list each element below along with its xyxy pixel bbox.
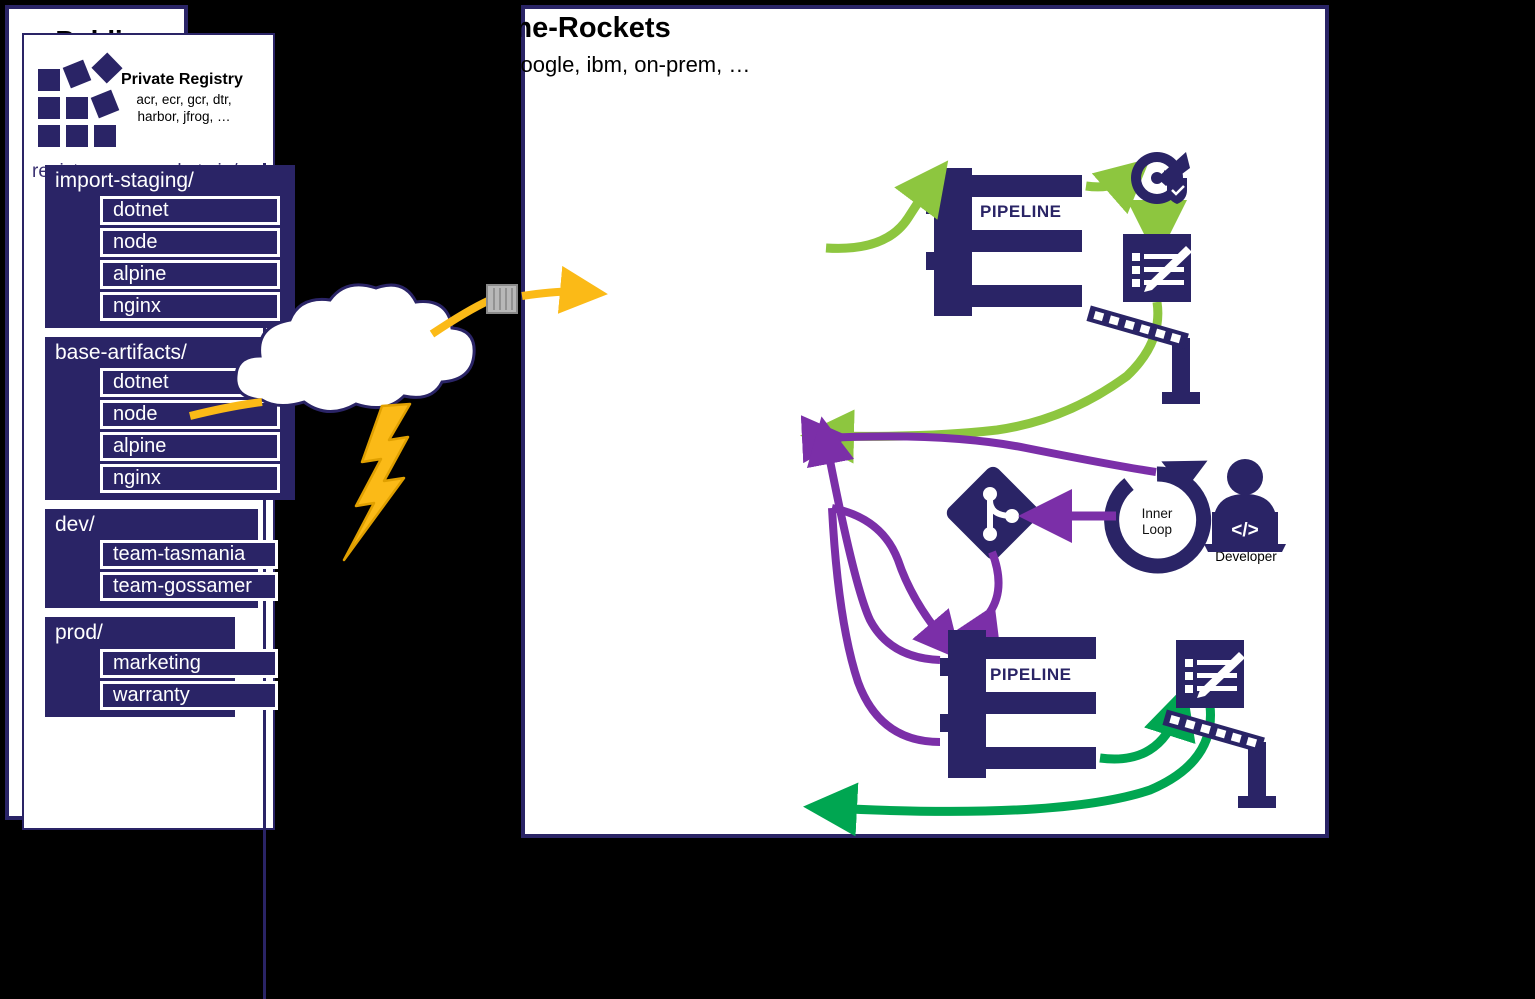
vendors-line1: acr, ecr, gcr, dtr, bbox=[109, 91, 259, 108]
pipeline-label-top: PIPELINE bbox=[980, 202, 1061, 222]
private-registry-name: Private Registry bbox=[121, 71, 243, 89]
tree-group-prod[interactable]: prod/ marketing warranty bbox=[45, 617, 235, 716]
tree-item-nginx[interactable]: nginx bbox=[100, 464, 280, 493]
tree-item-dotnet[interactable]: dotnet bbox=[100, 196, 280, 225]
tree-group-label: dev/ bbox=[45, 509, 258, 540]
inner-loop-line1: Inner bbox=[1126, 506, 1188, 522]
tree-group-label: prod/ bbox=[45, 617, 235, 648]
pipeline-label-bottom: PIPELINE bbox=[990, 665, 1071, 685]
repository-tree: import-staging/ dotnet node alpine nginx… bbox=[45, 165, 355, 723]
testing-label-bottom: TESTING bbox=[1192, 648, 1233, 658]
tree-item-alpine[interactable]: alpine bbox=[100, 260, 280, 289]
tree-item-node[interactable]: node bbox=[100, 400, 280, 429]
acme-rockets-panel bbox=[521, 5, 1329, 838]
private-registry-vendors: acr, ecr, gcr, dtr, harbor, jfrog, … bbox=[109, 91, 259, 126]
tree-group-import-staging[interactable]: import-staging/ dotnet node alpine nginx bbox=[45, 165, 295, 328]
tree-item-team-tasmania[interactable]: team-tasmania bbox=[100, 540, 278, 569]
diagram-canvas: Public Registries Docker Hub bbox=[0, 0, 1535, 846]
tree-group-label: base-artifacts/ bbox=[45, 337, 295, 368]
firewall-icon bbox=[487, 285, 517, 313]
tree-item-dotnet[interactable]: dotnet bbox=[100, 368, 280, 397]
testing-label-top: TESTING bbox=[1137, 241, 1178, 251]
internet-label: Internet bbox=[275, 353, 346, 377]
vendors-line2: harbor, jfrog, … bbox=[109, 108, 259, 125]
acme-subtitle: azure, aws, google, ibm, on-prem, … bbox=[320, 52, 820, 78]
tree-item-warranty[interactable]: warranty bbox=[100, 681, 278, 710]
acme-title: Acme-Rockets bbox=[340, 12, 800, 45]
tree-item-nginx[interactable]: nginx bbox=[100, 292, 280, 321]
tree-item-team-gossamer[interactable]: team-gossamer bbox=[100, 572, 278, 601]
tree-group-dev[interactable]: dev/ team-tasmania team-gossamer bbox=[45, 509, 258, 608]
inner-loop-label: Inner Loop bbox=[1126, 506, 1188, 537]
inner-loop-line2: Loop bbox=[1126, 522, 1188, 538]
tree-item-alpine[interactable]: alpine bbox=[100, 432, 280, 461]
tree-group-label: import-staging/ bbox=[45, 165, 295, 196]
tree-item-marketing[interactable]: marketing bbox=[100, 649, 278, 678]
tree-item-node[interactable]: node bbox=[100, 228, 280, 257]
developer-label: Developer bbox=[1196, 549, 1296, 564]
tree-group-base-artifacts[interactable]: base-artifacts/ dotnet node alpine nginx bbox=[45, 337, 295, 500]
